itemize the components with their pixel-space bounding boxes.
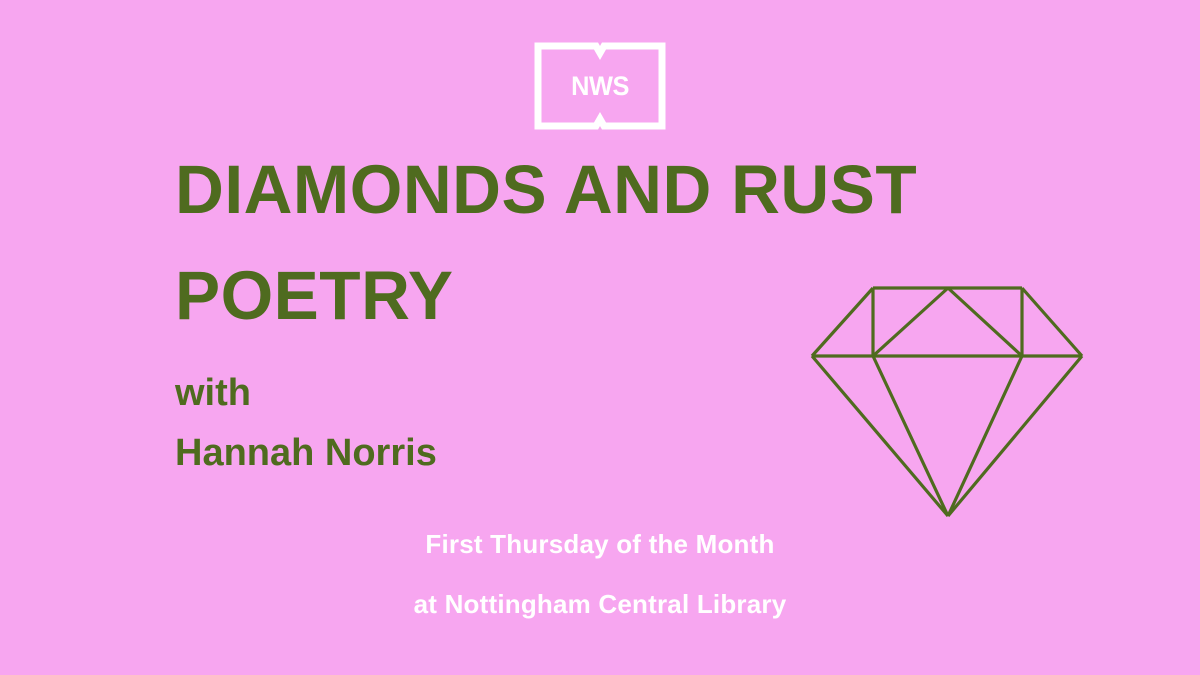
event-venue: at Nottingham Central Library	[160, 574, 1040, 634]
diamond-illustration	[800, 276, 1096, 528]
nws-logo: NWS	[534, 42, 666, 130]
logo-wordmark: NWS	[538, 42, 662, 130]
event-poster: NWS DIAMONDS AND RUST POETRY with Hannah…	[0, 0, 1200, 675]
event-details: First Thursday of the Month at Nottingha…	[160, 514, 1040, 634]
diamond-outline-icon	[800, 276, 1096, 528]
presenter-with-label: with	[175, 363, 695, 423]
headline-line-1: DIAMONDS AND RUST	[175, 137, 1028, 243]
presenter-name: Hannah Norris	[175, 423, 695, 483]
presenter-block: with Hannah Norris	[175, 363, 695, 483]
